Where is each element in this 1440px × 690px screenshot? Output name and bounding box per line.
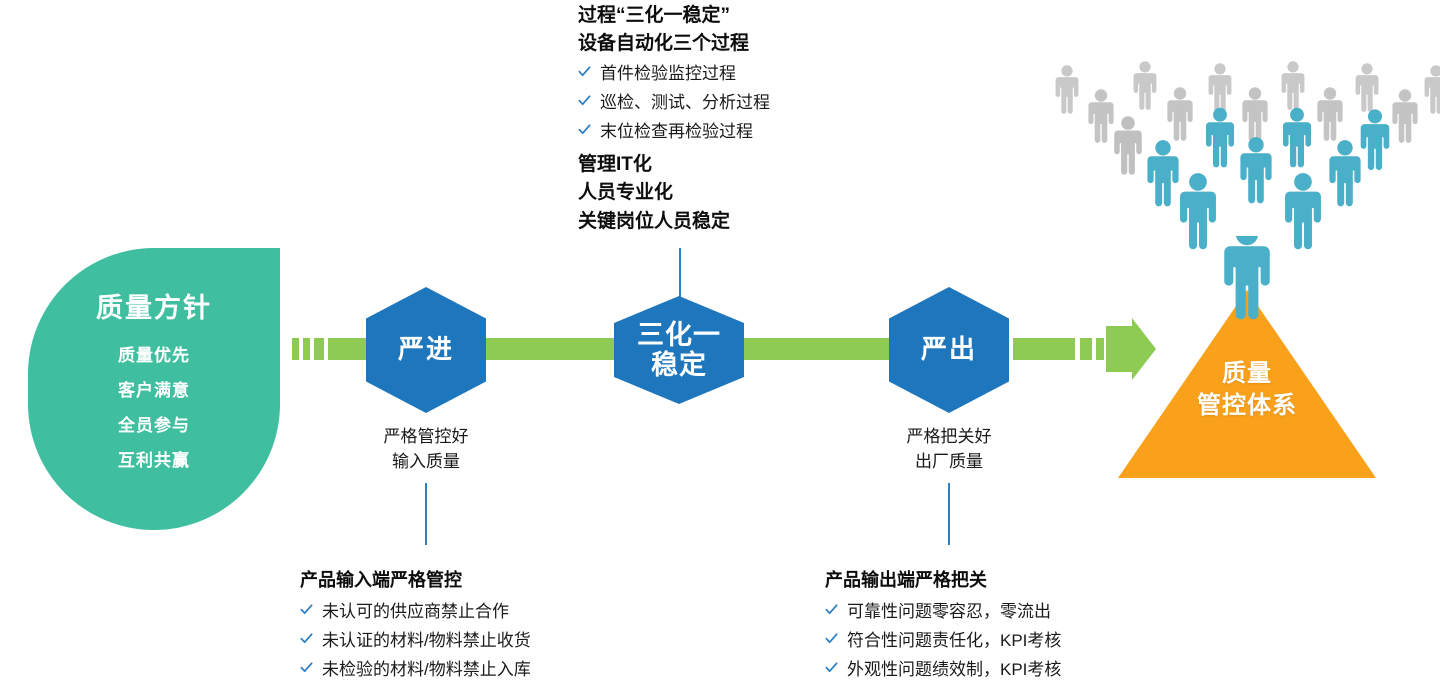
list-item: 外观性问题绩效制，KPI考核 — [825, 657, 1165, 683]
pyramid-title-line-2: 管控体系 — [1118, 390, 1376, 422]
node-hexagon-sanhuayiwending[interactable]: 三化一 稳定 — [614, 296, 744, 404]
list-item-label: 外观性问题绩效制，KPI考核 — [847, 657, 1061, 683]
arrow-head-icon — [1106, 318, 1156, 380]
pyramid-title: 质量 管控体系 — [1118, 358, 1376, 421]
process-heading-line-1: 过程“三化一稳定” — [578, 2, 878, 30]
connector-line-bottom-right — [948, 483, 950, 545]
list-item-label: 符合性问题责任化，KPI考核 — [847, 628, 1061, 654]
list-item-label: 巡检、测试、分析过程 — [600, 90, 770, 116]
track-tick — [314, 338, 324, 360]
output-control-block: 产品输出端严格把关 可靠性问题零容忍，零流出 符合性问题责任化，KPI考核 外观… — [825, 566, 1165, 685]
leader-person-icon — [1205, 236, 1289, 358]
connector-line-top-center — [679, 248, 681, 300]
check-icon — [300, 603, 313, 616]
process-subheading-1: 管理IT化 — [578, 151, 878, 180]
connector-line-bottom-left — [425, 483, 427, 545]
node-caption-line: 出厂质量 — [869, 450, 1029, 475]
list-item: 首件检验监控过程 — [578, 61, 878, 87]
quality-policy-item: 互利共赢 — [118, 444, 190, 479]
list-item: 可靠性问题零容忍，零流出 — [825, 599, 1165, 625]
node-hexagon-yanchu[interactable]: 严出 — [889, 287, 1009, 413]
node-caption-yanchu: 严格把关好 出厂质量 — [869, 425, 1029, 474]
track-segment — [733, 338, 889, 360]
quality-policy-item: 客户满意 — [118, 374, 190, 409]
list-item: 末位检查再检验过程 — [578, 119, 878, 145]
list-item-label: 首件检验监控过程 — [600, 61, 736, 87]
check-icon — [825, 632, 838, 645]
check-icon — [578, 123, 591, 136]
output-control-heading: 产品输出端严格把关 — [825, 566, 1165, 592]
check-icon — [300, 661, 313, 674]
list-item: 巡检、测试、分析过程 — [578, 90, 878, 116]
check-icon — [825, 603, 838, 616]
list-item: 未认证的材料/物料禁止收货 — [300, 628, 630, 654]
check-icon — [578, 94, 591, 107]
track-tick — [292, 338, 299, 360]
quality-policy-title: 质量方针 — [96, 286, 212, 325]
node-label-line-1: 三化一 — [637, 320, 721, 351]
check-icon — [825, 661, 838, 674]
list-item-label: 末位检查再检验过程 — [600, 119, 753, 145]
list-item-label: 未认证的材料/物料禁止收货 — [322, 628, 531, 654]
node-caption-line: 严格把关好 — [869, 425, 1029, 450]
process-subheading-2: 人员专业化 — [578, 179, 878, 208]
pyramid-title-line-1: 质量 — [1118, 358, 1376, 390]
process-detail-block: 过程“三化一稳定” 设备自动化三个过程 首件检验监控过程 巡检、测试、分析过程 … — [578, 2, 878, 236]
track-segment — [1013, 338, 1075, 360]
track-tick — [1096, 338, 1104, 360]
list-item-label: 可靠性问题零容忍，零流出 — [847, 599, 1051, 625]
node-hexagon-yanjin-label: 严进 — [398, 335, 454, 364]
list-item: 未检验的材料/物料禁止入库 — [300, 657, 630, 683]
input-control-heading: 产品输入端严格管控 — [300, 566, 630, 592]
node-caption-yanjin: 严格管控好 输入质量 — [346, 425, 506, 474]
node-caption-line: 输入质量 — [346, 450, 506, 475]
track-tick — [1080, 338, 1092, 360]
list-item: 符合性问题责任化，KPI考核 — [825, 628, 1165, 654]
node-hexagon-yanjin[interactable]: 严进 — [366, 287, 486, 413]
quality-policy-card: 质量方针 质量优先 客户满意 全员参与 互利共赢 — [28, 248, 280, 530]
list-item-label: 未检验的材料/物料禁止入库 — [322, 657, 531, 683]
process-subheading-3: 关键岗位人员稳定 — [578, 208, 878, 237]
track-tick — [303, 338, 310, 360]
check-icon — [300, 632, 313, 645]
quality-policy-item: 全员参与 — [118, 409, 190, 444]
node-caption-line: 严格管控好 — [346, 425, 506, 450]
check-icon — [578, 65, 591, 78]
quality-policy-item: 质量优先 — [118, 339, 190, 374]
node-label-line-2: 稳定 — [637, 350, 721, 381]
list-item: 未认可的供应商禁止合作 — [300, 599, 630, 625]
node-hexagon-sanhuayiwending-label: 三化一 稳定 — [637, 320, 721, 381]
process-heading-line-2: 设备自动化三个过程 — [578, 30, 878, 58]
node-hexagon-yanchu-label: 严出 — [921, 335, 977, 364]
input-control-block: 产品输入端严格管控 未认可的供应商禁止合作 未认证的材料/物料禁止收货 未检验的… — [300, 566, 630, 685]
list-item-label: 未认可的供应商禁止合作 — [322, 599, 509, 625]
process-bullet-list: 首件检验监控过程 巡检、测试、分析过程 末位检查再检验过程 — [578, 61, 878, 144]
